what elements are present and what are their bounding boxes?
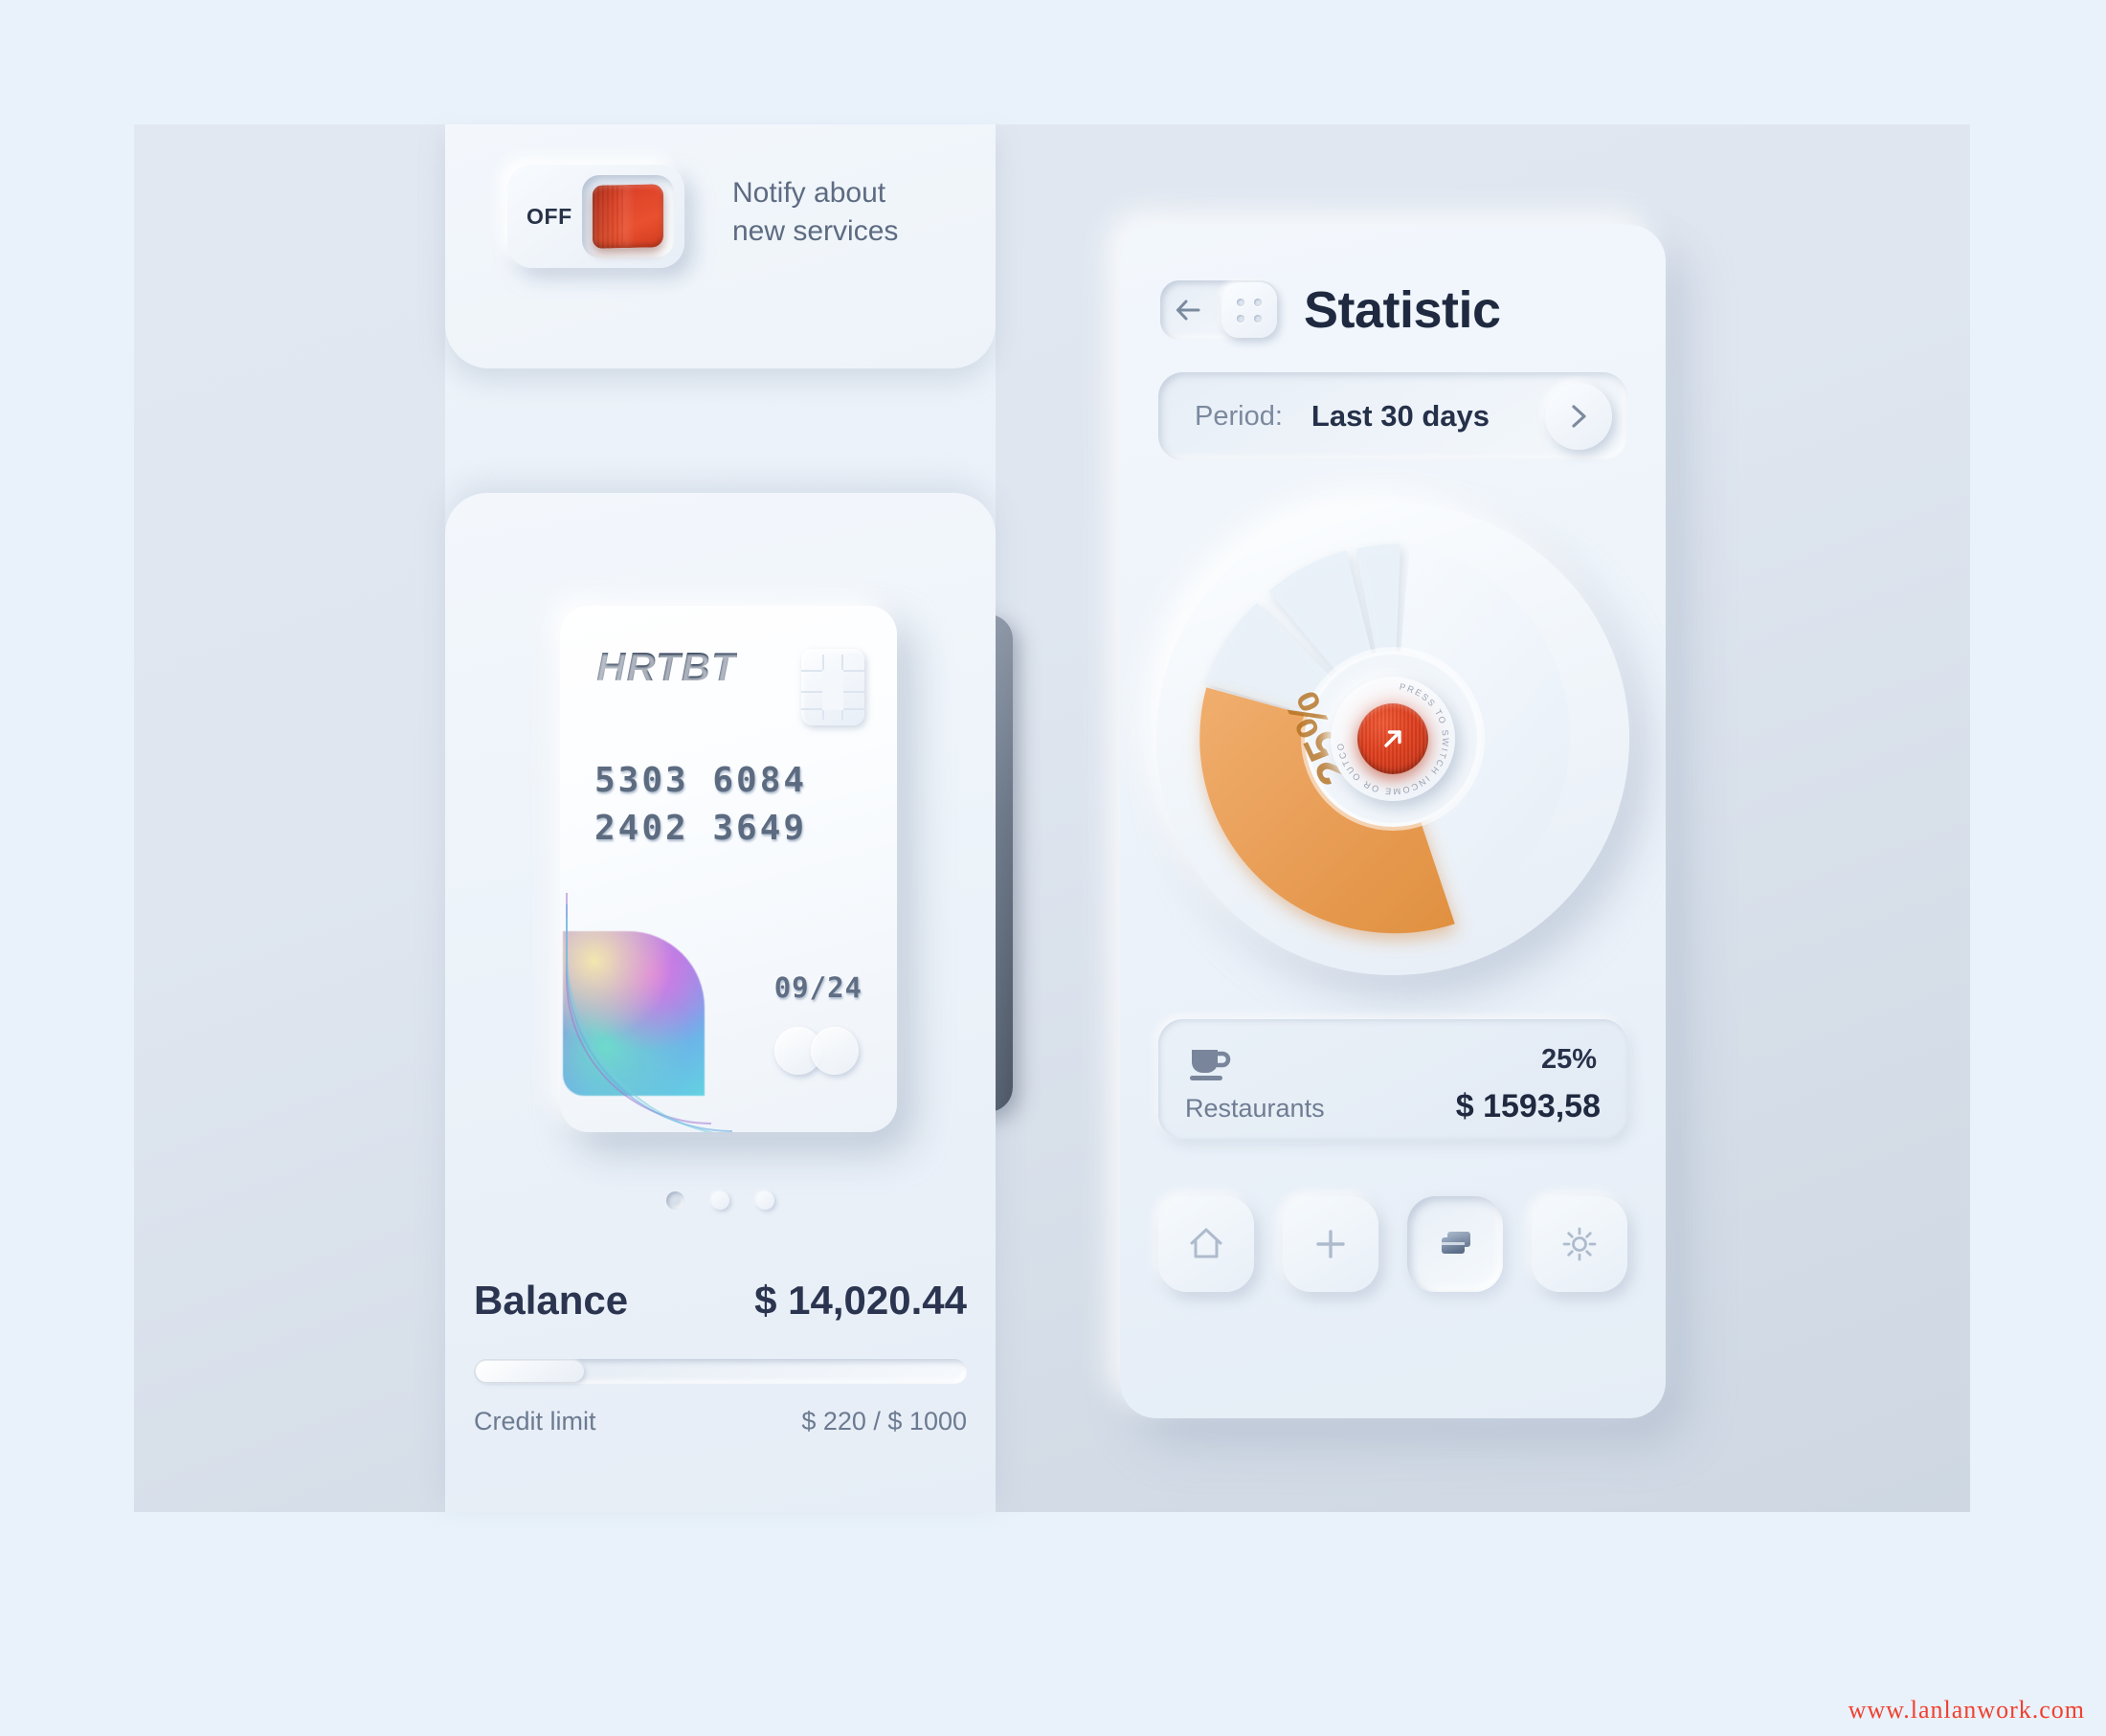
arrow-left-icon[interactable]: [1174, 297, 1202, 323]
carousel-dot[interactable]: [756, 1191, 774, 1210]
emv-chip-icon: [801, 649, 864, 725]
nav-item-cards[interactable]: [1407, 1196, 1503, 1292]
card-number-line1: 5303 6084: [594, 761, 807, 800]
chevron-right-icon: [1566, 402, 1591, 431]
balance-value: $ 14,020.44: [754, 1278, 967, 1324]
credit-limit-value: $ 220 / $ 1000: [801, 1407, 967, 1436]
carousel-dot[interactable]: [711, 1191, 729, 1210]
credit-progress-bar[interactable]: [474, 1359, 967, 1384]
period-value: Last 30 days: [1311, 399, 1490, 434]
balance-row: Balance $ 14,020.44: [474, 1278, 967, 1324]
notification-text: Notify about new services: [732, 174, 962, 250]
toggle-state-label: OFF: [526, 204, 572, 230]
card-panel: HRTBT 5303 6084 2402 3649 09/24 Balance …: [445, 493, 996, 1512]
nav-item-add[interactable]: [1283, 1196, 1378, 1292]
screenshot-root: OFF Notify about new services HRTBT 5303…: [0, 0, 2106, 1736]
coffee-cup-icon: [1189, 1046, 1233, 1082]
card-expiry: 09/24: [774, 971, 863, 1004]
header-nav-toggle[interactable]: [1160, 280, 1279, 340]
spending-donut-chart[interactable]: 25% PRESS TO SWITCH INCOME OR OUTCOME: [1156, 502, 1629, 975]
toggle-rocker-knob[interactable]: [593, 184, 663, 249]
statistic-header: Statistic: [1160, 280, 1501, 340]
notify-toggle[interactable]: OFF: [507, 165, 684, 268]
notification-text-line1: Notify about: [732, 174, 962, 212]
credit-limit-label: Credit limit: [474, 1407, 596, 1436]
cards-icon: [1434, 1223, 1476, 1265]
watermark: www.lanlanwork.com: [1848, 1696, 2085, 1725]
grid-dots-icon[interactable]: [1221, 282, 1277, 338]
transaction-category: Restaurants: [1185, 1094, 1325, 1124]
nav-item-home[interactable]: [1158, 1196, 1254, 1292]
card-wave-line: [566, 918, 751, 1132]
mastercard-logo-icon: [774, 1027, 859, 1075]
card-brand-logo: HRTBT: [596, 644, 737, 690]
credit-progress-fill: [476, 1361, 584, 1382]
transaction-amount: $ 1593,58: [1456, 1088, 1601, 1125]
credit-card[interactable]: HRTBT 5303 6084 2402 3649 09/24: [560, 606, 897, 1132]
notification-card: OFF Notify about new services: [445, 124, 996, 368]
page-title: Statistic: [1304, 280, 1501, 340]
notification-text-line2: new services: [732, 212, 962, 251]
carousel-dot-active[interactable]: [666, 1191, 684, 1210]
gear-icon: [1558, 1223, 1601, 1265]
bottom-navigation: [1158, 1191, 1627, 1297]
arrow-up-right-icon: [1377, 723, 1409, 755]
period-label: Period:: [1195, 401, 1283, 433]
home-icon: [1185, 1223, 1227, 1265]
plus-icon: [1310, 1223, 1352, 1265]
period-next-button[interactable]: [1545, 383, 1612, 450]
right-phone-screen: Statistic Period: Last 30 days: [1120, 225, 1666, 1418]
toggle-track[interactable]: [582, 175, 674, 257]
nav-item-settings[interactable]: [1532, 1196, 1627, 1292]
balance-label: Balance: [474, 1278, 628, 1324]
transaction-percent: 25%: [1541, 1044, 1597, 1076]
background-panel: [134, 124, 1970, 1512]
switch-income-outcome-button[interactable]: [1357, 703, 1428, 774]
card-number-line2: 2402 3649: [594, 809, 807, 848]
transaction-row[interactable]: Restaurants 25% $ 1593,58: [1158, 1019, 1627, 1139]
period-selector[interactable]: Period: Last 30 days: [1158, 372, 1627, 460]
credit-limit-row: Credit limit $ 220 / $ 1000: [474, 1407, 967, 1436]
card-carousel-dots[interactable]: [445, 1191, 996, 1210]
